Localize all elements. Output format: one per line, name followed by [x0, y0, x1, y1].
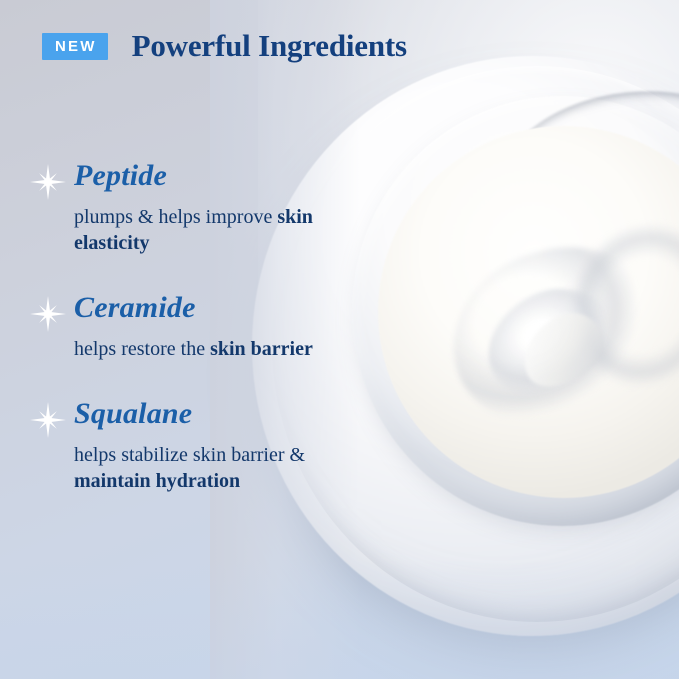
ingredient-item: Ceramide helps restore the skin barrier — [0, 292, 330, 362]
description-plain: plumps & helps improve — [74, 206, 277, 228]
content-layer: NEW Powerful Ingredients Peptide plumps … — [0, 0, 679, 679]
ingredient-name: Peptide — [74, 160, 330, 192]
ingredient-name: Ceramide — [74, 292, 330, 324]
description-plain: helps restore the — [74, 338, 210, 360]
ingredient-description: plumps & helps improve skin elasticity — [74, 204, 324, 257]
ingredient-name: Squalane — [74, 398, 330, 430]
ingredient-description: helps stabilize skin barrier & maintain … — [74, 442, 324, 495]
description-plain: helps stabilize skin barrier & — [74, 444, 305, 466]
description-emphasis: maintain hydration — [74, 470, 240, 492]
ingredient-item: Squalane helps stabilize skin barrier & … — [0, 398, 330, 494]
ingredient-item: Peptide plumps & helps improve skin elas… — [0, 160, 330, 256]
new-badge: NEW — [42, 33, 108, 60]
infographic-canvas: NEW Powerful Ingredients Peptide plumps … — [0, 0, 679, 679]
header: NEW Powerful Ingredients — [42, 28, 407, 64]
sparkle-icon — [30, 164, 66, 200]
page-title: Powerful Ingredients — [132, 28, 407, 64]
ingredient-description: helps restore the skin barrier — [74, 336, 324, 362]
sparkle-icon — [30, 296, 66, 332]
description-emphasis: skin barrier — [210, 338, 313, 360]
ingredient-list: Peptide plumps & helps improve skin elas… — [0, 160, 330, 530]
sparkle-icon — [30, 402, 66, 438]
